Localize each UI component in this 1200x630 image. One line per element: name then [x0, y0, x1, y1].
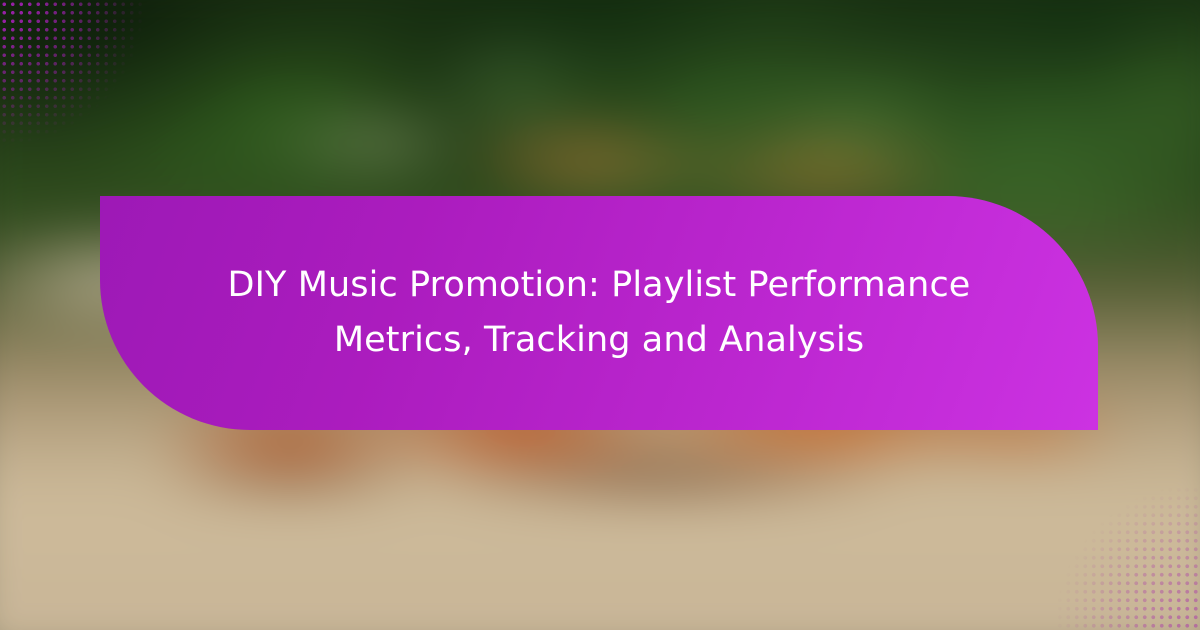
- page-title: DIY Music Promotion: Playlist Performanc…: [220, 258, 978, 368]
- social-card-canvas: DIY Music Promotion: Playlist Performanc…: [0, 0, 1200, 630]
- title-banner: DIY Music Promotion: Playlist Performanc…: [100, 196, 1098, 430]
